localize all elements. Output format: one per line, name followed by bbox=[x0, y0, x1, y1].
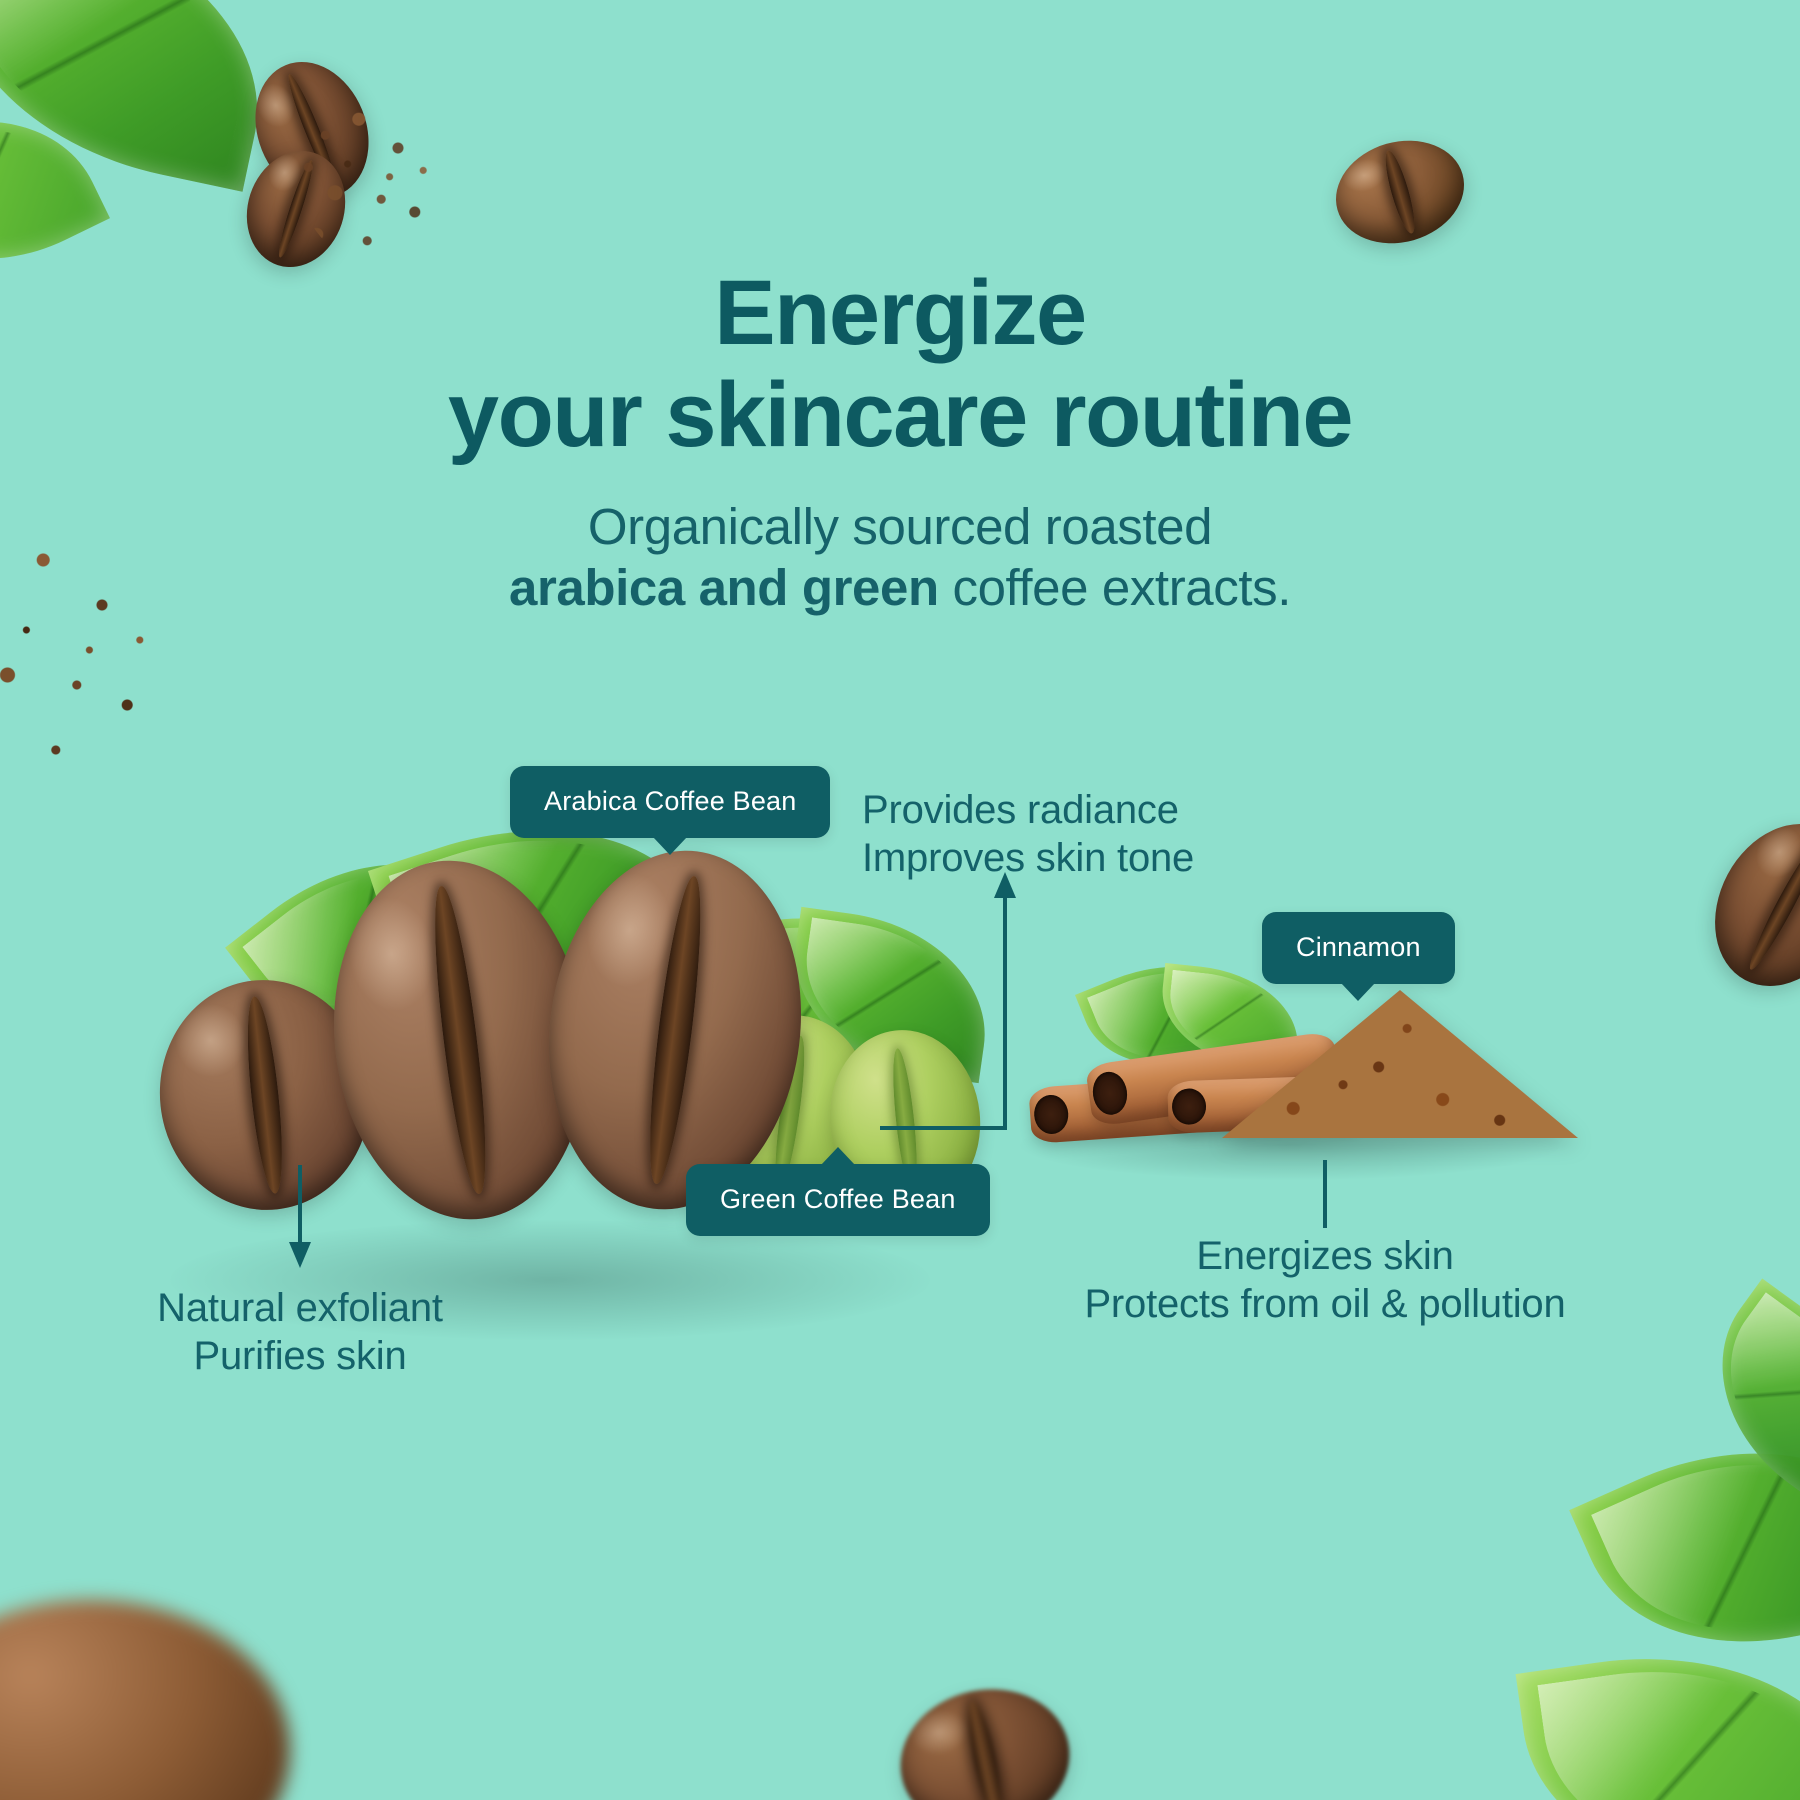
badge-green-pointer bbox=[821, 1147, 855, 1165]
roasted-bean-bottom-left-icon bbox=[0, 1600, 290, 1800]
cinnamon-stick-hole bbox=[1171, 1088, 1206, 1126]
roasted-bean-right-edge-icon bbox=[1688, 799, 1800, 1010]
callout-cinnamon-benefit: Energizes skin Protects from oil & pollu… bbox=[1025, 1232, 1625, 1328]
callout-arabica-line-1: Provides radiance bbox=[862, 786, 1194, 834]
cinnamon-cluster bbox=[1010, 960, 1580, 1160]
coffee-leaf-top-left-icon bbox=[0, 0, 290, 192]
coffee-leaf-bottom-center-icon bbox=[1674, 1278, 1800, 1511]
badge-green-label: Green Coffee Bean bbox=[720, 1184, 956, 1214]
badge-arabica-label: Arabica Coffee Bean bbox=[544, 786, 796, 816]
callout-green-line-1: Natural exfoliant bbox=[140, 1284, 460, 1332]
headline-line-1: Energize bbox=[714, 262, 1085, 364]
badge-cinnamon-pointer bbox=[1341, 983, 1375, 1001]
roasted-bean-top-right-icon bbox=[1324, 126, 1477, 258]
page-title: Energize your skincare routine bbox=[0, 262, 1800, 466]
callout-green-benefit: Natural exfoliant Purifies skin bbox=[140, 1284, 460, 1380]
roasted-bean-bottom-icon bbox=[887, 1674, 1082, 1800]
callout-cinnamon-line-1: Energizes skin bbox=[1025, 1232, 1625, 1280]
coffee-leaf-bottom-right-upper-icon bbox=[1569, 1388, 1800, 1706]
cinnamon-stick-hole bbox=[1033, 1094, 1070, 1135]
hero-text-block: Energize your skincare routine Organical… bbox=[0, 262, 1800, 619]
callout-arabica-benefit: Provides radiance Improves skin tone bbox=[862, 786, 1194, 882]
coffee-grounds-top-left-icon bbox=[300, 100, 440, 260]
badge-cinnamon-label: Cinnamon bbox=[1296, 932, 1421, 962]
roasted-bean-top-left-icon bbox=[236, 45, 389, 215]
page-subtitle: Organically sourced roasted arabica and … bbox=[0, 496, 1800, 618]
badge-arabica-pointer bbox=[653, 837, 687, 855]
badge-arabica-coffee-bean[interactable]: Arabica Coffee Bean bbox=[510, 766, 830, 838]
callout-arabica-line-2: Improves skin tone bbox=[862, 834, 1194, 882]
callout-green-line-2: Purifies skin bbox=[140, 1332, 460, 1380]
callout-cinnamon-line-2: Protects from oil & pollution bbox=[1025, 1280, 1625, 1328]
badge-green-coffee-bean[interactable]: Green Coffee Bean bbox=[686, 1164, 990, 1236]
coffee-leaf-bottom-right-lower-icon bbox=[1516, 1628, 1800, 1800]
subtitle-line-1: Organically sourced roasted bbox=[588, 498, 1212, 555]
subtitle-line-2-tail: coffee extracts. bbox=[939, 559, 1291, 616]
badge-cinnamon[interactable]: Cinnamon bbox=[1262, 912, 1455, 984]
roasted-bean-top-left-second-icon bbox=[232, 138, 360, 280]
subtitle-emphasis: arabica and green bbox=[509, 559, 939, 616]
cinnamon-stick-hole bbox=[1090, 1070, 1130, 1118]
headline-line-2: your skincare routine bbox=[448, 364, 1352, 466]
promo-banner: Energize your skincare routine Organical… bbox=[0, 0, 1800, 1800]
